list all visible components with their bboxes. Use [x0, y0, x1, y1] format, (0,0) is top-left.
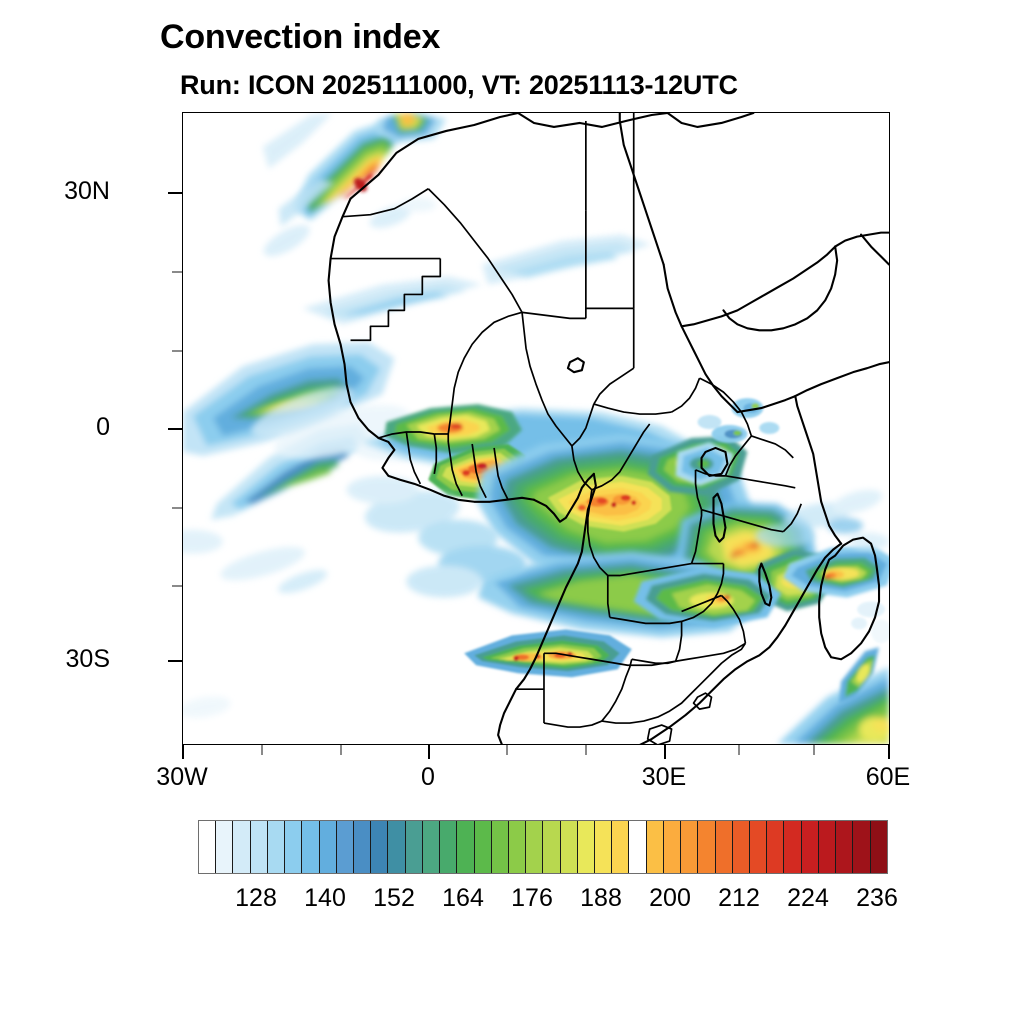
feature-madagascar-specks [851, 601, 889, 643]
convection-field [183, 113, 889, 744]
colorbar-cell-20 [543, 821, 560, 873]
colorbar-cell-23 [595, 821, 612, 873]
x-tick-minor [738, 745, 740, 755]
colorbar-cell-6 [302, 821, 319, 873]
colorbar-cell-4 [268, 821, 285, 873]
colorbar-cell-31 [733, 821, 750, 873]
x-tick-major [182, 745, 184, 759]
map-svg [183, 113, 889, 744]
colorbar-cell-7 [320, 821, 337, 873]
colorbar-cell-10 [371, 821, 388, 873]
y-tick-label-30n: 30N [0, 177, 110, 206]
colorbar-cell-34 [784, 821, 801, 873]
colorbar-cell-32 [750, 821, 767, 873]
colorbar-cell-17 [492, 821, 509, 873]
y-tick-minor [172, 585, 182, 587]
x-tick-minor [340, 745, 342, 755]
x-tick-major [428, 745, 430, 759]
x-tick-minor [585, 745, 587, 755]
y-tick-label-30s: 30S [0, 645, 110, 674]
colorbar-cell-1 [216, 821, 233, 873]
colorbar-cell-15 [457, 821, 474, 873]
x-tick-label-30w: 30W [122, 763, 242, 792]
colorbar-cell-25 [629, 821, 646, 873]
y-tick-major [168, 660, 182, 662]
colorbar-cell-8 [337, 821, 354, 873]
colorbar-cell-22 [578, 821, 595, 873]
colorbar-cell-12 [406, 821, 423, 873]
x-tick-label-30e: 30E [604, 763, 724, 792]
x-tick-major [664, 745, 666, 759]
colorbar-cell-37 [836, 821, 853, 873]
colorbar-cell-5 [285, 821, 302, 873]
colorbar[interactable] [198, 820, 888, 874]
colorbar-cell-35 [802, 821, 819, 873]
feature-ethiopia [698, 398, 780, 443]
x-tick-label-60e: 60E [828, 763, 948, 792]
colorbar-tick-label: 236 [822, 884, 932, 913]
y-tick-label-0: 0 [0, 413, 110, 442]
colorbar-cell-39 [871, 821, 887, 873]
colorbar-cell-9 [354, 821, 371, 873]
colorbar-cell-38 [853, 821, 870, 873]
colorbar-cell-26 [647, 821, 664, 873]
feature-sw-indian-itcz [777, 667, 889, 744]
x-tick-minor [261, 745, 263, 755]
colorbar-cell-24 [612, 821, 629, 873]
colorbar-cell-13 [423, 821, 440, 873]
colorbar-cell-33 [767, 821, 784, 873]
colorbar-cell-16 [475, 821, 492, 873]
y-tick-major [168, 192, 182, 194]
colorbar-cell-18 [509, 821, 526, 873]
x-tick-major [888, 745, 890, 759]
y-tick-major [168, 428, 182, 430]
y-tick-minor [172, 271, 182, 273]
page-subtitle: Run: ICON 2025111000, VT: 20251113-12UTC [180, 70, 738, 101]
x-tick-minor [813, 745, 815, 755]
colorbar-cell-11 [388, 821, 405, 873]
colorbar-cell-19 [526, 821, 543, 873]
colorbar-cell-3 [251, 821, 268, 873]
x-tick-minor [506, 745, 508, 755]
colorbar-cell-14 [440, 821, 457, 873]
y-tick-minor [172, 507, 182, 509]
colorbar-cell-30 [716, 821, 733, 873]
colorbar-cell-27 [664, 821, 681, 873]
page-title: Convection index [160, 18, 440, 57]
feature-sahel-streaks [303, 235, 652, 325]
colorbar-cell-0 [199, 821, 216, 873]
colorbar-cell-36 [819, 821, 836, 873]
x-tick-label-0: 0 [368, 763, 488, 792]
feature-atlantic-s-haze [183, 530, 330, 722]
colorbar-cell-28 [681, 821, 698, 873]
y-tick-minor [172, 350, 182, 352]
colorbar-cell-29 [698, 821, 715, 873]
colorbar-cell-2 [233, 821, 250, 873]
map-plot-area[interactable] [182, 112, 890, 745]
colorbar-cell-21 [561, 821, 578, 873]
